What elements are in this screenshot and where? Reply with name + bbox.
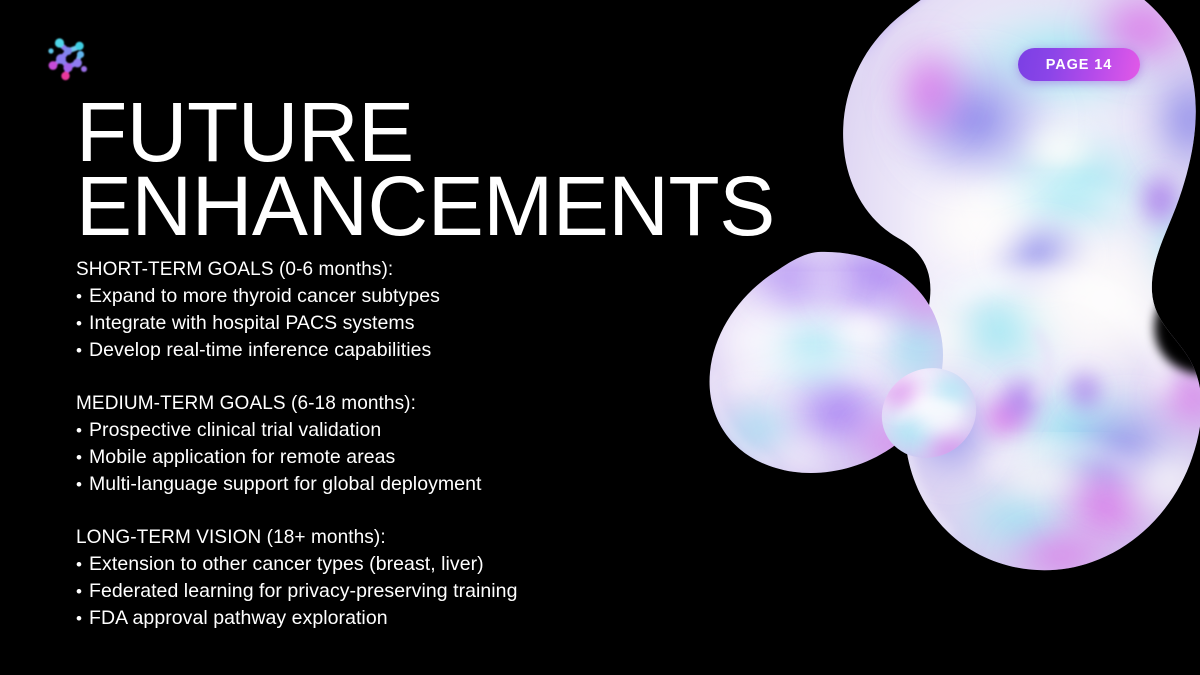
small-blob bbox=[875, 362, 985, 466]
section-medium-term: MEDIUM-TERM GOALS (6-18 months): • Prosp… bbox=[76, 390, 676, 498]
list-item-label: Extension to other cancer types (breast,… bbox=[89, 551, 484, 578]
bullet-icon: • bbox=[76, 551, 89, 578]
medium-blob bbox=[690, 238, 970, 500]
bullet-icon: • bbox=[76, 578, 89, 605]
section-heading: LONG-TERM VISION (18+ months): bbox=[76, 524, 676, 551]
list-item: • Develop real-time inference capabiliti… bbox=[76, 337, 676, 364]
large-blob bbox=[820, 0, 1200, 600]
list-item: • Expand to more thyroid cancer subtypes bbox=[76, 283, 676, 310]
page-title: FUTURE ENHANCEMENTS bbox=[76, 95, 716, 243]
bullet-icon: • bbox=[76, 605, 89, 632]
list-item: • Prospective clinical trial validation bbox=[76, 417, 676, 444]
page-title-line-2: ENHANCEMENTS bbox=[76, 169, 716, 243]
list-item: • Multi-language support for global depl… bbox=[76, 471, 676, 498]
section-long-term: LONG-TERM VISION (18+ months): • Extensi… bbox=[76, 524, 676, 632]
bullet-icon: • bbox=[76, 337, 89, 364]
bullet-icon: • bbox=[76, 283, 89, 310]
molecule-network-logo bbox=[41, 29, 97, 85]
page-badge-label: PAGE 14 bbox=[1046, 57, 1112, 73]
list-item-label: Prospective clinical trial validation bbox=[89, 417, 381, 444]
list-item-label: Expand to more thyroid cancer subtypes bbox=[89, 283, 440, 310]
list-item: • Federated learning for privacy-preserv… bbox=[76, 578, 676, 605]
bullet-icon: • bbox=[76, 417, 89, 444]
list-item: • FDA approval pathway exploration bbox=[76, 605, 676, 632]
list-item-label: FDA approval pathway exploration bbox=[89, 605, 388, 632]
page-title-line-1: FUTURE bbox=[76, 95, 716, 169]
list-item-label: Integrate with hospital PACS systems bbox=[89, 310, 415, 337]
page-badge[interactable]: PAGE 14 bbox=[1018, 48, 1140, 81]
section-short-term: SHORT-TERM GOALS (0-6 months): • Expand … bbox=[76, 256, 676, 364]
slide-root: PAGE 14 FUTURE ENHANCEMENTS SHORT-TERM G… bbox=[0, 0, 1200, 675]
list-item: • Integrate with hospital PACS systems bbox=[76, 310, 676, 337]
list-item-label: Develop real-time inference capabilities bbox=[89, 337, 431, 364]
list-item: • Mobile application for remote areas bbox=[76, 444, 676, 471]
list-item-label: Mobile application for remote areas bbox=[89, 444, 395, 471]
section-heading: SHORT-TERM GOALS (0-6 months): bbox=[76, 256, 676, 283]
section-heading: MEDIUM-TERM GOALS (6-18 months): bbox=[76, 390, 676, 417]
list-item-label: Federated learning for privacy-preservin… bbox=[89, 578, 517, 605]
list-item: • Extension to other cancer types (breas… bbox=[76, 551, 676, 578]
bullet-icon: • bbox=[76, 444, 89, 471]
bullet-icon: • bbox=[76, 471, 89, 498]
bullet-icon: • bbox=[76, 310, 89, 337]
list-item-label: Multi-language support for global deploy… bbox=[89, 471, 481, 498]
content-sections: SHORT-TERM GOALS (0-6 months): • Expand … bbox=[76, 256, 676, 632]
